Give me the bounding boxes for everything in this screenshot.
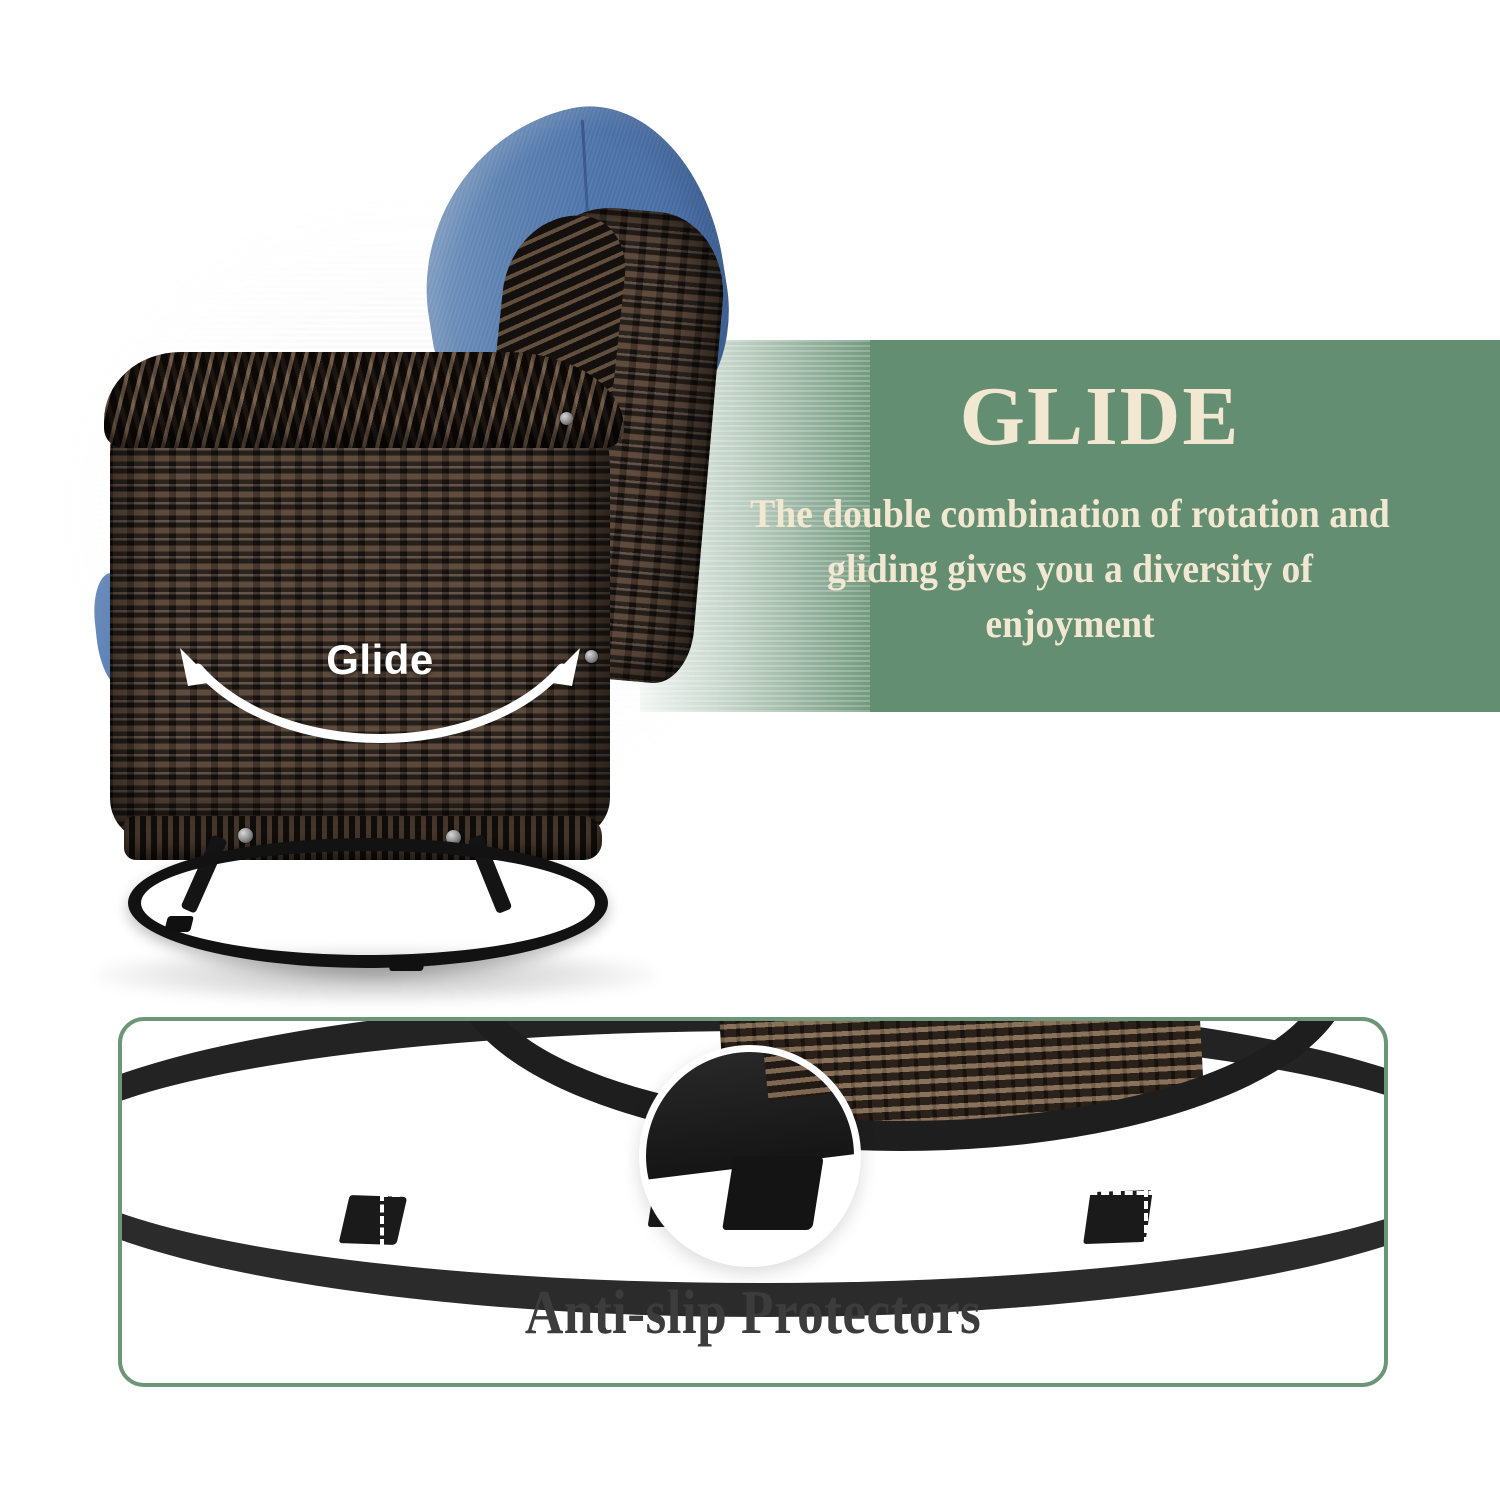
anti-slip-detail-panel: Anti-slip Protectors xyxy=(118,1017,1388,1387)
base-foot-pad xyxy=(164,916,194,932)
screw-icon xyxy=(560,412,573,425)
guide-line-vertical xyxy=(380,1193,384,1247)
magnified-anti-slip-protector xyxy=(722,1156,824,1230)
glide-annotation: Glide xyxy=(160,630,600,780)
feature-panel: GLIDE The double combination of rotation… xyxy=(640,340,1500,712)
swivel-base-ring xyxy=(128,838,608,968)
magnified-wicker xyxy=(760,1045,861,1101)
feature-panel-content: GLIDE The double combination of rotation… xyxy=(640,340,1500,712)
guide-line-vertical xyxy=(1144,1189,1148,1245)
detail-panel-caption: Anti-slip Protectors xyxy=(210,1278,1295,1349)
screw-icon xyxy=(238,828,253,843)
guide-line-horizontal xyxy=(912,1191,1180,1195)
feature-description: The double combination of rotation and g… xyxy=(741,486,1399,652)
base-foot-pad xyxy=(389,956,425,971)
armrest-braided-rim xyxy=(104,352,624,448)
product-feature-infographic: GLIDE The double combination of rotation… xyxy=(0,0,1500,1500)
glide-annotation-label: Glide xyxy=(160,636,600,684)
magnifier-circle-icon xyxy=(639,1045,861,1267)
anti-slip-protector xyxy=(1083,1190,1153,1244)
anti-slip-protector xyxy=(339,1195,408,1245)
product-photo-swivel-glider-chair xyxy=(0,90,720,920)
feature-title: GLIDE xyxy=(960,374,1241,460)
